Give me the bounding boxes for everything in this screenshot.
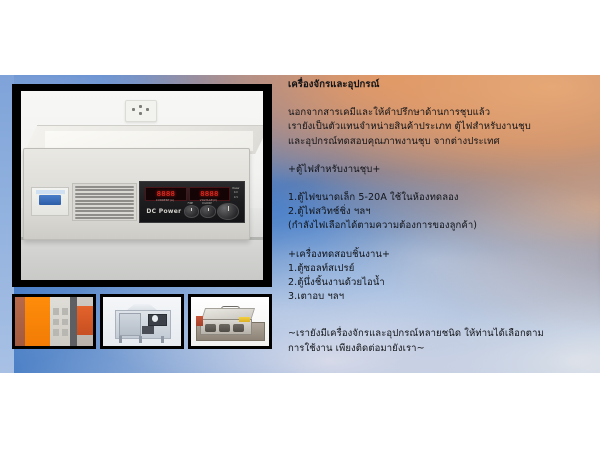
current-display-value: 8888: [157, 191, 175, 198]
intro-line-3: และอุปกรณ์ทดสอบคุณภาพงานชุบ จากต่างประเท…: [288, 135, 594, 149]
section-two-item-3: 3.เตาอบ ฯลฯ: [288, 290, 594, 304]
coarse-adjust-knob: [200, 205, 215, 217]
indicator-lamp-group: Power C.C C.V: [230, 187, 241, 200]
section-two-title: +เครื่องทดสอบชิ้นงาน+: [288, 248, 594, 262]
breaker-window: [31, 187, 69, 216]
front-control-panel: 8888 8888 CURRENT(A) VOLTAGE(V) Power C.…: [139, 181, 245, 223]
closing-line-2: การใช้งาน เพียงติดต่อมายังเรา~: [288, 342, 594, 356]
closing-line-1: ~เรายังมีเครื่องจักรและอุปกรณ์หลายชนิด ใ…: [288, 327, 594, 341]
main-product-photo-frame: 8888 8888 CURRENT(A) VOLTAGE(V) Power C.…: [12, 84, 272, 287]
current-display-label: CURRENT(A): [145, 200, 184, 203]
indicator-label-power: Power: [230, 188, 241, 190]
ventilation-grille: [72, 183, 137, 221]
breaker-switch: [39, 195, 61, 204]
main-product-photo: 8888 8888 CURRENT(A) VOLTAGE(V) Power C.…: [21, 91, 263, 280]
section-two-item-1: 1.ตู้ซอลท์สเปรย์: [288, 262, 594, 276]
wall-socket-icon: [125, 100, 157, 122]
section-two-item-2: 2.ตู้นึ่งชิ้นงานด้วยไอน้ำ: [288, 276, 594, 290]
device-brand-label: DC Power: [146, 209, 181, 215]
indicator-label-cv: C.V: [230, 197, 241, 199]
presentation-slide: 8888 8888 CURRENT(A) VOLTAGE(V) Power C.…: [0, 75, 600, 373]
indicator-label-cc: C.C: [230, 192, 241, 194]
voltage-display-value: 8888: [200, 191, 218, 198]
slide-heading: เครื่องจักรและอุปกรณ์: [288, 78, 594, 92]
section-one-item-1: 1.ตู้ไฟขนาดเล็ก 5-20A ใช้ในห้องทดลอง: [288, 191, 594, 205]
fine-adjust-knob: [184, 205, 199, 217]
thumbnail-strip: [12, 294, 274, 349]
intro-line-1: นอกจากสารเคมีและให้คำปรึกษาด้านการชุบแล้…: [288, 106, 594, 120]
section-one-note: (กำลังไฟเลือกได้ตามความต้องการของลูกค้า): [288, 219, 594, 233]
screenshot-canvas: 8888 8888 CURRENT(A) VOLTAGE(V) Power C.…: [0, 0, 600, 450]
slide-text-column: เครื่องจักรและอุปกรณ์ นอกจากสารเคมีและให…: [288, 78, 594, 356]
section-one-title: +ตู้ไฟสำหรับงานชุบ+: [288, 163, 594, 177]
intro-line-2: เรายังเป็นตัวแทนจำหน่ายสินค้าประเภท ตู้ไ…: [288, 120, 594, 134]
breaker-label-plate: [36, 190, 65, 194]
power-supply-chassis: 8888 8888 CURRENT(A) VOLTAGE(V) Power C.…: [23, 148, 250, 241]
thumbnail-orange-coating-line: [12, 294, 96, 349]
main-output-knob: [217, 203, 240, 220]
section-one-item-2: 2.ตู้ไฟสวิทช์ชิ่ง ฯลฯ: [288, 205, 594, 219]
thumbnail-steam-trough-machine: [188, 294, 272, 349]
thumbnail-salt-spray-test-chamber: [100, 294, 184, 349]
